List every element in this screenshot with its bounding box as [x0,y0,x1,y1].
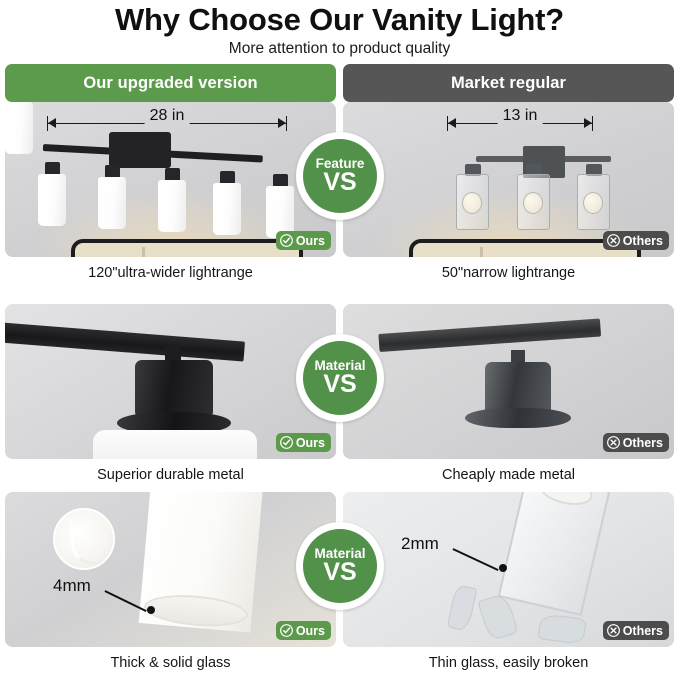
fixture-cup-icon [485,362,551,414]
page-title: Why Choose Our Vanity Light? [0,2,679,38]
thickness-annotation-ours: 4mm [53,576,143,612]
check-circle-icon [280,234,293,247]
thickness-value: 2mm [401,534,439,554]
vs-badge-text: VS [323,372,356,397]
caption-theirs-metal: Cheaply made metal [343,462,674,488]
panel-ours-glass: 4mm Ours [5,492,336,647]
panel-ours-metal: Ours [5,304,336,459]
fixture-mount-plate-icon [109,132,171,168]
column-header-theirs: Market regular [343,64,674,102]
arrow-left-icon [48,118,56,128]
panel-theirs-metal: Others [343,304,674,459]
comparison-row-feature: 28 in Ours [0,102,679,288]
badge-ours-label: Ours [296,436,325,450]
leader-dot [147,606,155,614]
badge-others: Others [603,231,669,250]
glass-shade-icon [98,177,126,229]
caption-ours-feature: 120"ultra-wider lightrange [5,260,336,286]
dimension-end-cap-right [286,116,287,131]
caption-theirs-feature: 50"narrow lightrange [343,260,674,286]
caption-ours-glass: Thick & solid glass [5,650,336,676]
cross-circle-icon [607,234,620,247]
check-circle-icon [280,436,293,449]
panel-theirs-feature: 13 in Others [343,102,674,257]
page-subtitle: More attention to product quality [0,40,679,58]
caption-theirs-glass: Thin glass, easily broken [343,650,674,676]
cross-circle-icon [607,436,620,449]
vs-badge-inner: Material VS [303,341,377,415]
thick-glass-cylinder-icon [139,492,264,633]
vs-badge-inner: Feature VS [303,139,377,213]
dimension-annotation-ours: 28 in [47,114,287,134]
badge-others: Others [603,433,669,452]
dimension-value: 28 in [145,107,190,125]
vs-badge-material-metal: Material VS [296,334,384,422]
arrow-left-icon [448,118,456,128]
badge-others-label: Others [623,436,663,450]
thickness-annotation-theirs: 2mm [401,534,511,570]
vs-badge-text: VS [323,560,356,585]
glass-shade-top-icon [93,430,257,459]
comparison-row-material-glass: 4mm Ours 2mm [0,492,679,677]
column-header-theirs-label: Market regular [451,74,566,93]
vs-badge-text: VS [323,170,356,195]
fixture-cup-icon [135,360,213,416]
comparison-infographic: Why Choose Our Vanity Light? More attent… [0,0,679,677]
vs-badge-feature: Feature VS [296,132,384,220]
panel-theirs-glass: 2mm Others [343,492,674,647]
vanity-counter-icon [71,239,303,257]
dimension-annotation-theirs: 13 in [447,114,593,134]
arrow-right-icon [278,118,286,128]
glass-shade-icon [158,180,186,232]
bulb-icon [523,192,543,214]
leader-line [453,548,499,570]
badge-ours: Ours [276,231,331,250]
column-header-ours-label: Our upgraded version [83,74,257,93]
dimension-end-cap-right [592,116,593,131]
column-header-ours: Our upgraded version [5,64,336,102]
magnifier-inset-icon [53,508,115,570]
glass-shade-icon [5,102,33,154]
comparison-row-material-metal: Ours Others Material VS Superior [0,304,679,490]
vs-badge-material-glass: Material VS [296,522,384,610]
badge-others: Others [603,621,669,640]
badge-others-label: Others [623,624,663,638]
bulb-icon [462,192,482,214]
check-circle-icon [280,624,293,637]
fixture-flange-icon [465,408,571,428]
cross-circle-icon [607,624,620,637]
badge-ours-label: Ours [296,234,325,248]
glass-shade-icon [213,183,241,235]
caption-ours-metal: Superior durable metal [5,462,336,488]
badge-ours: Ours [276,621,331,640]
bulb-icon [583,192,603,214]
panel-ours-feature: 28 in Ours [5,102,336,257]
leader-line [105,590,147,612]
leader-dot [499,564,507,572]
thickness-value: 4mm [53,576,91,596]
vs-badge-inner: Material VS [303,529,377,603]
badge-others-label: Others [623,234,663,248]
arrow-right-icon [584,118,592,128]
badge-ours-label: Ours [296,624,325,638]
dimension-value: 13 in [498,107,543,125]
glass-shade-icon [38,174,66,226]
badge-ours: Ours [276,433,331,452]
